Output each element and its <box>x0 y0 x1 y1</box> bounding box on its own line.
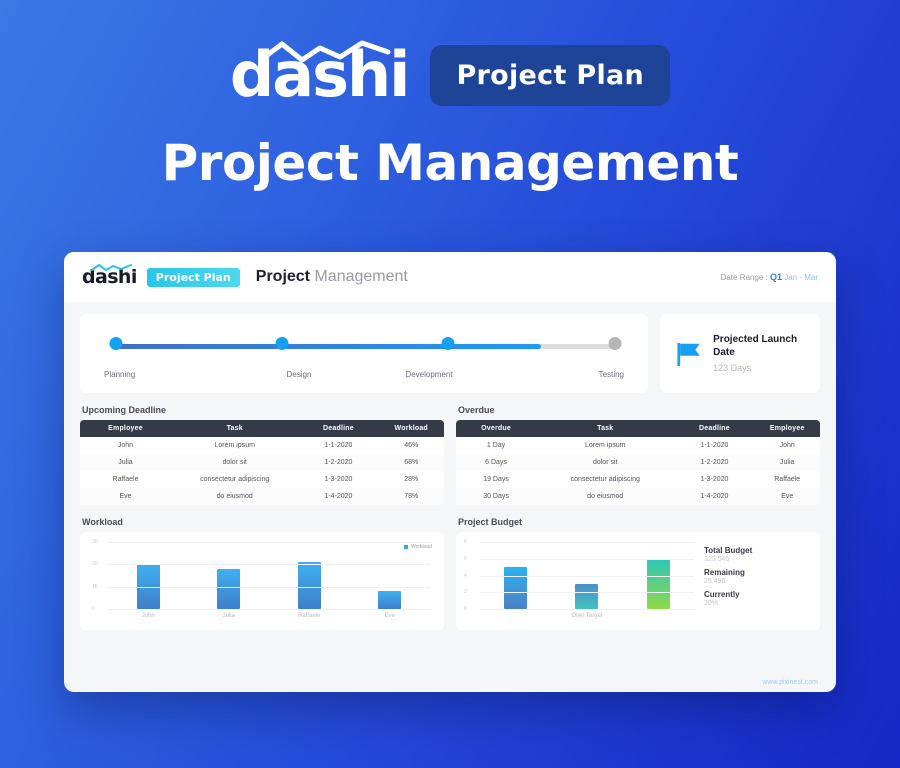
x-axis-label: Eve <box>350 613 431 619</box>
table-cell: 1-3-2020 <box>298 471 378 488</box>
date-range-quarter: Q1 <box>770 272 782 282</box>
y-axis-tick: 2 <box>464 589 467 595</box>
column-header: Task <box>171 420 298 437</box>
timeline-card: PlanningDesignDevelopmentTesting <box>80 314 648 393</box>
budget-summary-label: Currently <box>704 590 810 599</box>
y-axis-tick: 0 <box>92 606 95 612</box>
table-cell: 1-4-2020 <box>298 488 378 505</box>
gridline <box>480 609 694 610</box>
table-cell: 1-4-2020 <box>674 488 754 505</box>
table-cell: consectetur adipiscing <box>171 471 298 488</box>
table-cell: 19 Days <box>456 471 536 488</box>
table-cell: 1-3-2020 <box>674 471 754 488</box>
table-row[interactable]: Juliadolor sit1-2-202068% <box>80 454 444 471</box>
table-cell: 1-1-2020 <box>674 437 754 454</box>
budget-chart-card: 86420 Over Target Total Budget123.546Rem… <box>456 532 820 630</box>
upcoming-deadline-table: EmployeeTaskDeadlineWorkload JohnLorem i… <box>80 420 444 505</box>
budget-x-labels: Over Target <box>480 613 694 619</box>
gridline <box>108 564 430 565</box>
table-cell: dolor sit <box>171 454 298 471</box>
workload-chart-title: Workload <box>82 517 444 527</box>
y-axis-tick: 4 <box>464 573 467 579</box>
timeline-fill <box>116 344 541 349</box>
y-axis-tick: 20 <box>92 561 98 567</box>
bar[interactable] <box>298 562 321 609</box>
bar[interactable] <box>378 591 401 609</box>
projected-launch-card: Projected Launch Date 123 Days <box>660 314 820 393</box>
dashboard-header-left: dashi Project Plan Project Management <box>82 266 408 288</box>
table-cell: 28% <box>378 471 444 488</box>
budget-summary-list: Total Budget123.546Remaining25.496Curren… <box>698 542 810 624</box>
table-row[interactable]: 6 Daysdolor sit1-2-2020Julia <box>456 454 820 471</box>
table-header-row: EmployeeTaskDeadlineWorkload <box>80 420 444 437</box>
table-cell: 30 Days <box>456 488 536 505</box>
budget-chart-title: Project Budget <box>458 517 820 527</box>
table-cell: 1 Day <box>456 437 536 454</box>
column-header: Deadline <box>674 420 754 437</box>
y-axis-tick: 8 <box>464 539 467 545</box>
dashboard-plan-badge: Project Plan <box>147 268 240 287</box>
x-axis-label: John <box>108 613 189 619</box>
dashboard-header: dashi Project Plan Project Management Da… <box>64 252 836 302</box>
workload-x-labels: JohnJuliaRaffaeleEve <box>108 613 430 619</box>
gridline <box>108 542 430 543</box>
x-axis-label: Raffaele <box>269 613 350 619</box>
dashboard-logo: dashi <box>82 266 137 288</box>
gridline <box>480 542 694 543</box>
overdue-table: OverdueTaskDeadlineEmployee 1 DayLorem i… <box>456 420 820 505</box>
launch-title: Projected Launch Date <box>713 334 806 359</box>
table-cell: dolor sit <box>536 454 674 471</box>
x-axis-label: Julia <box>189 613 270 619</box>
table-body: 1 DayLorem ipsum1-1-2020John6 Daysdolor … <box>456 437 820 505</box>
budget-plot-wrap: 86420 Over Target <box>466 542 698 624</box>
workload-bars <box>108 542 430 609</box>
gridline <box>480 559 694 560</box>
hero-plan-badge: Project Plan <box>430 45 670 106</box>
squiggle-icon-small <box>90 263 136 272</box>
timeline-labels: PlanningDesignDevelopmentTesting <box>102 370 626 379</box>
table-cell: Lorem ipsum <box>171 437 298 454</box>
column-header: Employee <box>80 420 171 437</box>
y-axis-tick: 6 <box>464 556 467 562</box>
timeline-dot-testing[interactable] <box>608 337 621 350</box>
column-header: Overdue <box>456 420 536 437</box>
date-range-months: Jan - Mar <box>784 273 818 282</box>
gridline <box>480 576 694 577</box>
timeline-step-label: Design <box>234 370 364 379</box>
upcoming-deadline-section: Upcoming Deadline EmployeeTaskDeadlineWo… <box>80 393 444 505</box>
column-header: Task <box>536 420 674 437</box>
bar[interactable] <box>217 569 240 609</box>
table-cell: do eiusmod <box>536 488 674 505</box>
overdue-title: Overdue <box>458 405 820 415</box>
budget-summary-label: Total Budget <box>704 546 810 555</box>
launch-value: 123 Days <box>713 363 806 373</box>
column-header: Employee <box>754 420 820 437</box>
table-row[interactable]: JohnLorem ipsum1-1-202046% <box>80 437 444 454</box>
timeline-dot-design[interactable] <box>276 337 289 350</box>
launch-text: Projected Launch Date 123 Days <box>713 334 806 373</box>
date-range-label: Date Range : <box>721 273 768 282</box>
column-header: Workload <box>378 420 444 437</box>
y-axis-tick: 0 <box>464 606 467 612</box>
timeline-step-label: Development <box>364 370 494 379</box>
top-row: PlanningDesignDevelopmentTesting Project… <box>80 314 820 393</box>
column-header: Deadline <box>298 420 378 437</box>
table-cell: John <box>80 437 171 454</box>
table-cell: Lorem ipsum <box>536 437 674 454</box>
table-cell: Eve <box>80 488 171 505</box>
bar[interactable] <box>504 567 527 609</box>
budget-summary-value: 20% <box>704 600 810 607</box>
bar[interactable] <box>575 584 598 609</box>
table-cell: Eve <box>754 488 820 505</box>
budget-summary-item: Remaining25.496 <box>704 568 810 585</box>
timeline-step-label: Testing <box>494 370 626 379</box>
charts-row-titles: Workload Project Budget <box>80 505 820 532</box>
dashboard-page-title-bold: Project <box>256 268 310 285</box>
dashboard-page-title: Project Management <box>256 268 408 286</box>
table-cell: 46% <box>378 437 444 454</box>
table-cell: do eiusmod <box>171 488 298 505</box>
table-row[interactable]: 1 DayLorem ipsum1-1-2020John <box>456 437 820 454</box>
timeline-dot-development[interactable] <box>442 337 455 350</box>
table-cell: 1-2-2020 <box>674 454 754 471</box>
overdue-section: Overdue OverdueTaskDeadlineEmployee 1 Da… <box>456 393 820 505</box>
hero-logo-row: dashi Project Plan <box>0 44 900 106</box>
footer-link[interactable]: www.pixinest.com <box>762 679 818 686</box>
table-row[interactable]: Raffaeleconsectetur adipiscing1-3-202028… <box>80 471 444 488</box>
table-cell: 78% <box>378 488 444 505</box>
table-cell: 68% <box>378 454 444 471</box>
table-header-row: OverdueTaskDeadlineEmployee <box>456 420 820 437</box>
gridline <box>108 587 430 588</box>
timeline-dot-planning[interactable] <box>110 337 123 350</box>
table-cell: consectetur adipiscing <box>536 471 674 488</box>
table-row[interactable]: 19 Daysconsectetur adipiscing1-3-2020Raf… <box>456 471 820 488</box>
y-axis-tick: 30 <box>92 539 98 545</box>
y-axis-tick: 10 <box>92 584 98 590</box>
charts-row: Workload 3020100 JohnJuliaRaffaeleEve 86… <box>80 532 820 630</box>
table-row[interactable]: 30 Daysdo eiusmod1-4-2020Eve <box>456 488 820 505</box>
hero-title: Project Management <box>0 134 900 192</box>
date-range-display[interactable]: Date Range : Q1 Jan - Mar <box>721 272 818 282</box>
table-cell: Raffaele <box>80 471 171 488</box>
table-cell: 6 Days <box>456 454 536 471</box>
timeline-step-label: Planning <box>102 370 234 379</box>
budget-x-label: Over Target <box>480 613 694 619</box>
table-cell: 1-2-2020 <box>298 454 378 471</box>
bar[interactable] <box>647 559 670 609</box>
progress-timeline[interactable] <box>108 336 620 358</box>
brand-logo: dashi <box>230 44 409 106</box>
workload-chart-card: Workload 3020100 JohnJuliaRaffaeleEve <box>80 532 444 630</box>
hero-section: dashi Project Plan Project Management <box>0 0 900 192</box>
budget-summary-value: 123.546 <box>704 556 810 563</box>
table-cell: 1-1-2020 <box>298 437 378 454</box>
tables-row: Upcoming Deadline EmployeeTaskDeadlineWo… <box>80 393 820 505</box>
budget-summary-value: 25.496 <box>704 578 810 585</box>
table-row[interactable]: Evedo eiusmod1-4-202078% <box>80 488 444 505</box>
budget-summary-label: Remaining <box>704 568 810 577</box>
budget-summary-item: Total Budget123.546 <box>704 546 810 563</box>
dashboard-page-title-light: Management <box>314 268 407 285</box>
table-cell: Julia <box>754 454 820 471</box>
flag-icon <box>674 337 703 371</box>
table-body: JohnLorem ipsum1-1-202046%Juliadolor sit… <box>80 437 444 505</box>
upcoming-deadline-title: Upcoming Deadline <box>82 405 444 415</box>
table-cell: John <box>754 437 820 454</box>
dashboard-body: PlanningDesignDevelopmentTesting Project… <box>64 302 836 630</box>
table-cell: Julia <box>80 454 171 471</box>
squiggle-icon <box>258 40 408 66</box>
gridline <box>480 592 694 593</box>
dashboard-card: dashi Project Plan Project Management Da… <box>64 252 836 692</box>
budget-summary-item: Currently20% <box>704 590 810 607</box>
gridline <box>108 609 430 610</box>
table-cell: Raffaele <box>754 471 820 488</box>
workload-plot-area: 3020100 <box>108 542 430 610</box>
budget-plot-area: 86420 <box>480 542 694 610</box>
